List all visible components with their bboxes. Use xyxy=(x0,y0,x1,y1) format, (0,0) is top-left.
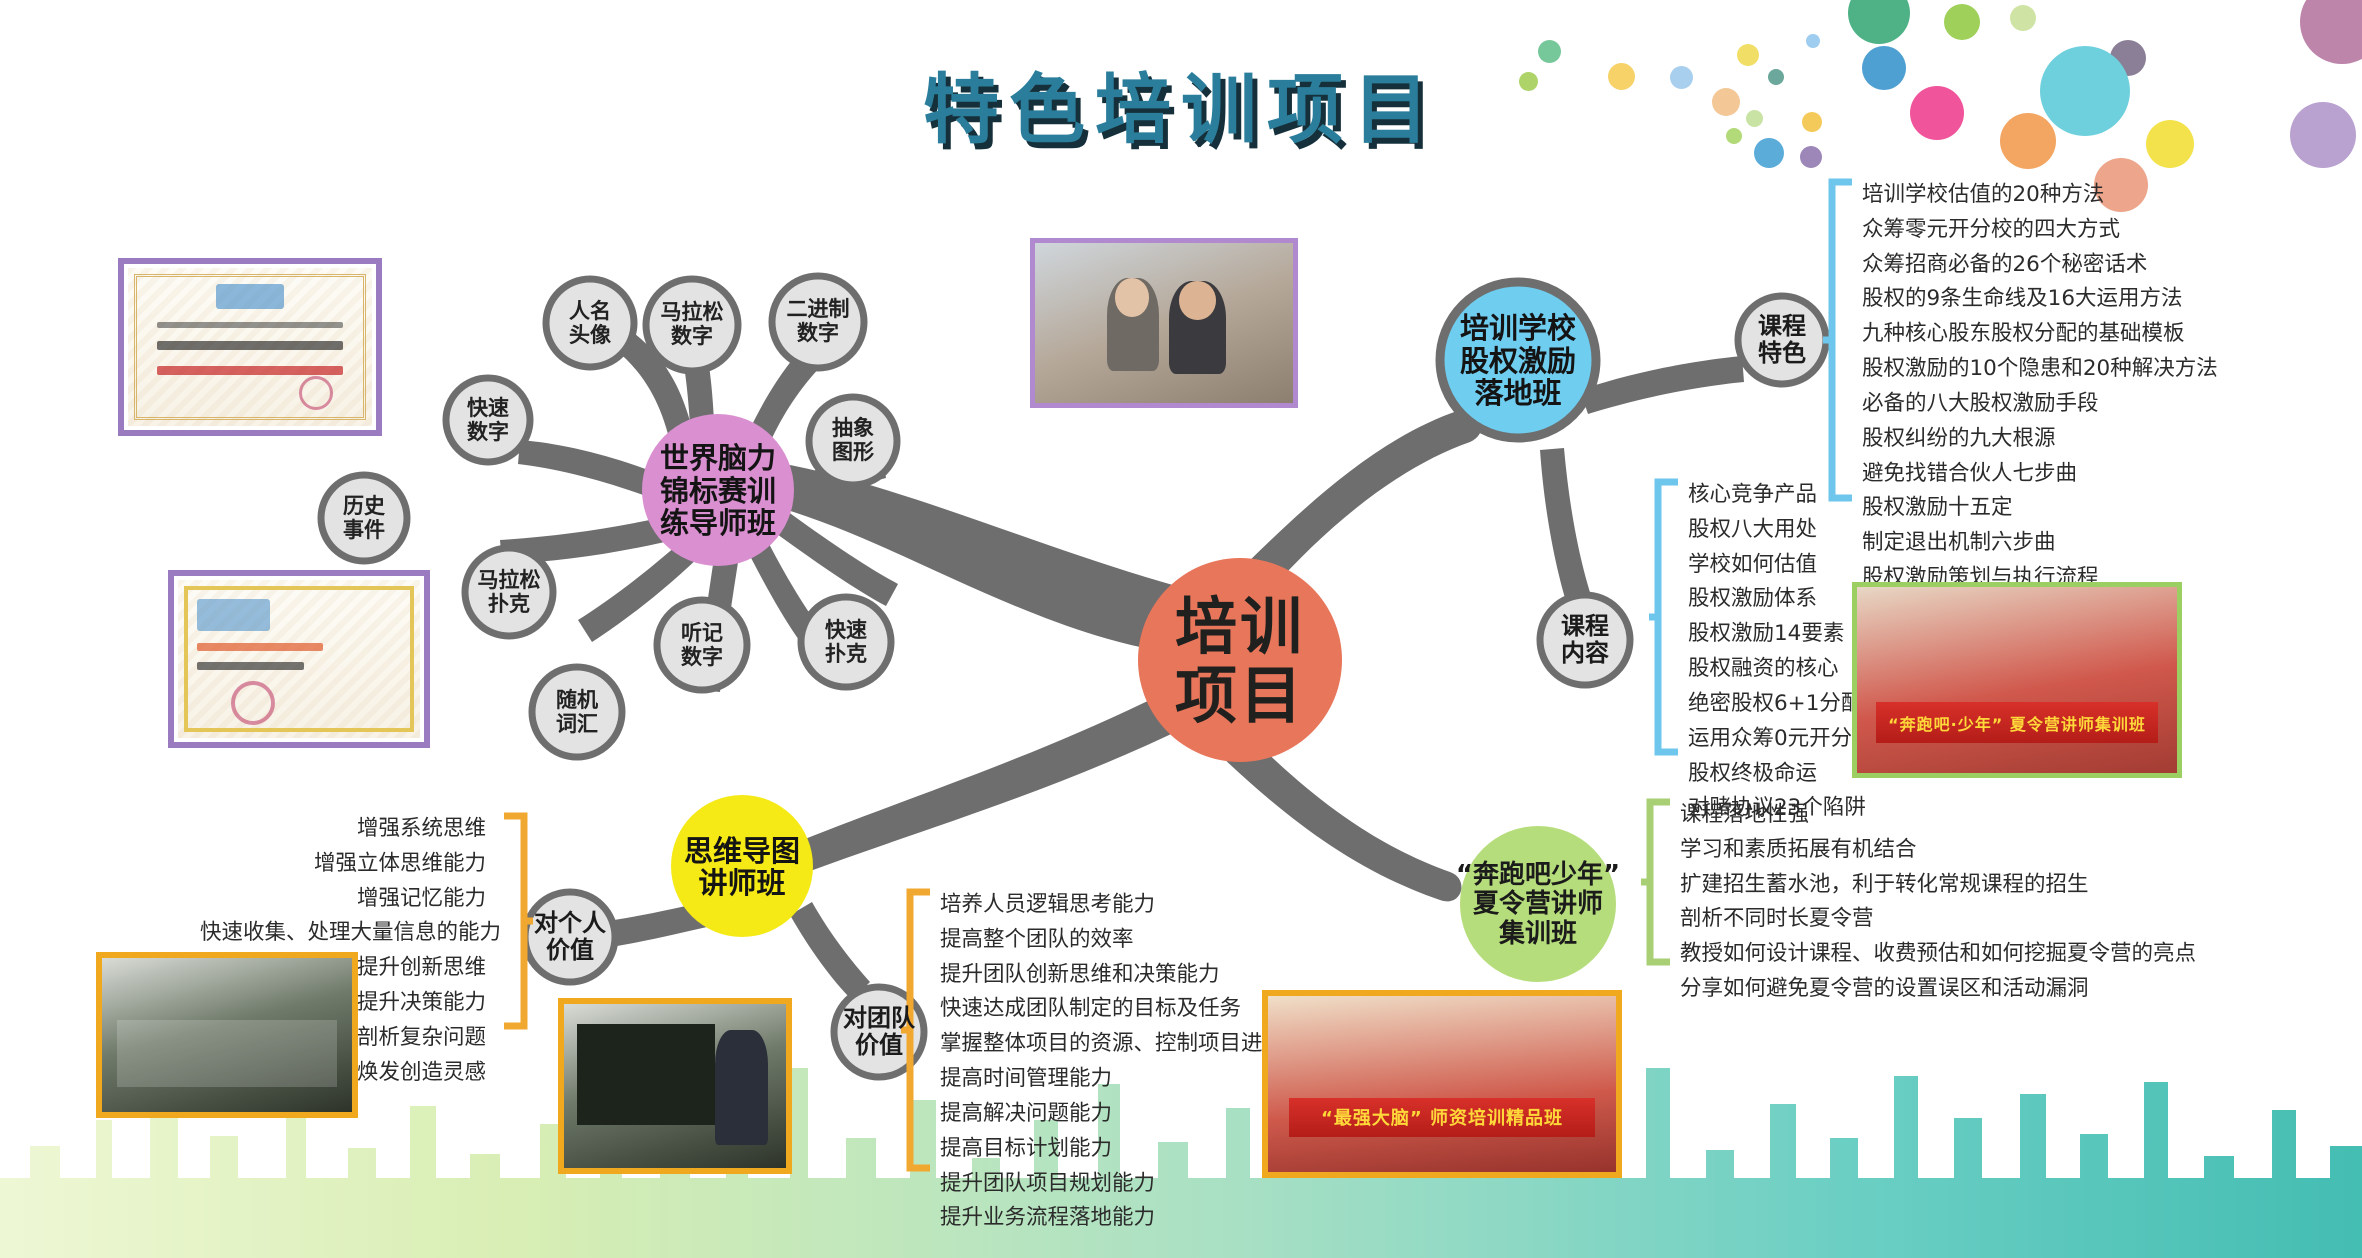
summer-camp-group-image: “奔跑吧·少年” 夏令营讲师集训班 xyxy=(1857,587,2177,773)
bracket-camp-items xyxy=(1640,798,1676,966)
list-camp-items: 课程落地性强 学习和素质拓展有机结合 扩建招生蓄水池，利于转化常规课程的招生 剖… xyxy=(1680,798,2196,1007)
list-item: 增强记忆能力 xyxy=(200,882,486,917)
list-item: 分享如何避免夏令营的设置误区和活动漏洞 xyxy=(1680,972,2196,1007)
list-item: 制定退出机制六步曲 xyxy=(1862,526,2218,561)
branch-label-brain[interactable]: 世界脑力 锦标赛训 练导师班 xyxy=(638,435,798,547)
certificate-coach-photo[interactable] xyxy=(168,570,430,748)
students-classroom-photo[interactable] xyxy=(96,952,358,1118)
list-item: 增强立体思维能力 xyxy=(200,847,486,882)
list-item: 课程落地性强 xyxy=(1680,798,2196,833)
list-team-value: 培养人员逻辑思考能力 提高整个团队的效率 提升团队创新思维和决策能力 快速达成团… xyxy=(940,888,1284,1236)
leaf-label-4[interactable]: 抽象 图形 xyxy=(809,412,897,470)
page-title: 特色培训项目 xyxy=(0,48,2362,158)
certificate-award-photo[interactable] xyxy=(118,258,382,436)
list-item: 提升团队项目规划能力 xyxy=(940,1167,1284,1202)
leaf-label-7[interactable]: 随机 词汇 xyxy=(533,684,621,742)
leaf-label-8[interactable]: 听记 数字 xyxy=(658,617,746,675)
branch-label-camp[interactable]: “奔跑吧少年” 夏令营讲师 集训班 xyxy=(1452,848,1624,962)
list-item: 九种核心股东股权分配的基础模板 xyxy=(1862,317,2218,352)
certificate-coach-image xyxy=(178,580,420,738)
list-item: 核心竞争产品 xyxy=(1688,478,1905,513)
list-item: 众筹招商必备的26个秘密话术 xyxy=(1862,248,2218,283)
list-item: 提升团队创新思维和决策能力 xyxy=(940,958,1284,993)
leaf-label-2[interactable]: 二进制 数字 xyxy=(772,293,864,351)
list-item: 必备的八大股权激励手段 xyxy=(1862,387,2218,422)
list-item: 提高整个团队的效率 xyxy=(940,923,1284,958)
list-item: 培训学校估值的20种方法 xyxy=(1862,178,2218,213)
two-men-photo[interactable] xyxy=(1030,238,1298,408)
list-item: 培养人员逻辑思考能力 xyxy=(940,888,1284,923)
list-item: 扩建招生蓄水池，利于转化常规课程的招生 xyxy=(1680,868,2196,903)
branch-label-mindmap[interactable]: 思维导图 讲师班 xyxy=(664,826,820,908)
list-item: 避免找错合伙人七步曲 xyxy=(1862,457,2218,492)
subnode-label-course-content[interactable]: 课程 内容 xyxy=(1539,608,1631,672)
list-item: 股权激励十五定 xyxy=(1862,491,2218,526)
list-item: 提高时间管理能力 xyxy=(940,1062,1284,1097)
photo-banner: “奔跑吧·少年” 夏令营讲师集训班 xyxy=(1876,702,2158,743)
list-item: 剖析不同时长夏令营 xyxy=(1680,902,2196,937)
list-course-features: 培训学校估值的20种方法 众筹零元开分校的四大方式 众筹招商必备的26个秘密话术… xyxy=(1862,178,2218,596)
two-men-image xyxy=(1035,243,1293,403)
teacher-training-hall-image: “最强大脑” 师资培训精品班 xyxy=(1268,996,1616,1172)
list-item: 增强系统思维 xyxy=(200,812,486,847)
list-item: 股权八大用处 xyxy=(1688,513,1905,548)
list-item: 股权的9条生命线及16大运用方法 xyxy=(1862,282,2218,317)
subnode-label-team-value[interactable]: 对团队 价值 xyxy=(829,1000,929,1064)
bracket-course-content xyxy=(1648,478,1684,756)
subnode-label-course-features[interactable]: 课程 特色 xyxy=(1736,308,1828,372)
certificate-award-image xyxy=(128,268,372,426)
list-item: 股权纠纷的九大根源 xyxy=(1862,422,2218,457)
list-item: 快速达成团队制定的目标及任务 xyxy=(940,992,1284,1027)
list-item: 学校如何估值 xyxy=(1688,548,1905,583)
leaf-label-1[interactable]: 马拉松 数字 xyxy=(646,296,738,354)
list-item: 提升业务流程落地能力 xyxy=(940,1201,1284,1236)
leaf-label-0[interactable]: 人名 头像 xyxy=(546,295,634,353)
subnode-label-personal-value[interactable]: 对个人 价值 xyxy=(520,905,620,969)
center-node-label[interactable]: 培训 项目 xyxy=(1138,586,1342,736)
list-item: 众筹零元开分校的四大方式 xyxy=(1862,213,2218,248)
leaf-label-9[interactable]: 快速 扑克 xyxy=(802,614,890,672)
students-classroom-image xyxy=(102,958,352,1112)
list-item: 教授如何设计课程、收费预估和如何挖掘夏令营的亮点 xyxy=(1680,937,2196,972)
summer-camp-group-photo[interactable]: “奔跑吧·少年” 夏令营讲师集训班 xyxy=(1852,582,2182,778)
list-item: 快速收集、处理大量信息的能力 xyxy=(200,916,486,951)
leaf-label-3[interactable]: 快速 数字 xyxy=(444,392,532,450)
list-item: 学习和素质拓展有机结合 xyxy=(1680,833,2196,868)
leaf-label-6[interactable]: 马拉松 扑克 xyxy=(463,564,555,622)
leaf-label-5[interactable]: 历史 事件 xyxy=(320,490,408,548)
teacher-training-hall-photo[interactable]: “最强大脑” 师资培训精品班 xyxy=(1262,990,1622,1178)
lecturer-blackboard-image xyxy=(564,1004,786,1168)
list-item: 提高目标计划能力 xyxy=(940,1132,1284,1167)
branch-label-equity[interactable]: 培训学校 股权激励 落地班 xyxy=(1437,305,1599,417)
list-item: 提高解决问题能力 xyxy=(940,1097,1284,1132)
list-item: 股权激励的10个隐患和20种解决方法 xyxy=(1862,352,2218,387)
lecturer-blackboard-photo[interactable] xyxy=(558,998,792,1174)
list-item: 掌握整体项目的资源、控制项目进程 xyxy=(940,1027,1284,1062)
photo-banner: “最强大脑” 师资培训精品班 xyxy=(1289,1098,1595,1137)
